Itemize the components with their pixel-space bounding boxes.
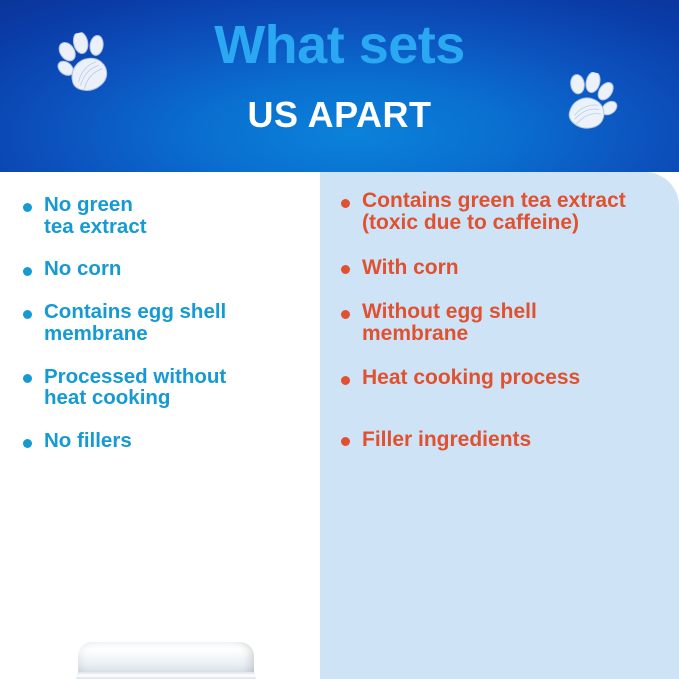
list-item: Contains green tea extract(toxic due to …: [340, 190, 674, 235]
bullet-dot-icon: [23, 267, 32, 276]
list-item: Heat cooking process: [340, 367, 674, 389]
bullet-dot-icon: [23, 439, 32, 448]
list-item-label: Without egg shellmembrane: [362, 300, 537, 345]
our-benefits-list: No greentea extract No corn Contains egg…: [22, 194, 308, 473]
list-item: Contains egg shellmembrane: [22, 301, 308, 344]
list-item: No corn: [22, 258, 308, 280]
list-item-label: No corn: [44, 257, 121, 280]
list-item: With corn: [340, 257, 674, 279]
page-subtitle: US APART: [0, 97, 679, 133]
header-banner: What sets US APART: [0, 0, 679, 172]
page-title: What sets: [0, 18, 679, 72]
bullet-dot-icon: [341, 437, 350, 446]
list-item-label: Processed withoutheat cooking: [44, 365, 226, 410]
bullet-dot-icon: [23, 374, 32, 383]
bullet-dot-icon: [341, 310, 350, 319]
infographic-canvas: What sets US APART No greentea extract N…: [0, 0, 679, 679]
list-item-label: Filler ingredients: [362, 428, 531, 451]
list-item-label: No greentea extract: [44, 193, 147, 238]
list-item: Without egg shellmembrane: [340, 301, 674, 346]
bullet-dot-icon: [23, 203, 32, 212]
bullet-dot-icon: [23, 310, 32, 319]
bullet-dot-icon: [341, 199, 350, 208]
list-item-label: Contains egg shellmembrane: [44, 300, 226, 345]
our-product-jar-image: ARTULLANO GLUCOSAMINE ADVANCED HIP & JOI…: [68, 642, 264, 679]
jar-lid-rim: [76, 672, 256, 679]
list-item-label: Contains green tea extract(toxic due to …: [362, 189, 626, 234]
list-item: Processed withoutheat cooking: [22, 366, 308, 409]
list-item-label: With corn: [362, 256, 459, 279]
list-item: Filler ingredients: [340, 429, 674, 451]
list-item-label: No fillers: [44, 429, 132, 452]
their-drawbacks-list: Contains green tea extract(toxic due to …: [340, 190, 674, 473]
our-product-panel: No greentea extract No corn Contains egg…: [0, 172, 320, 679]
list-item-label: Heat cooking process: [362, 366, 580, 389]
bullet-dot-icon: [341, 265, 350, 274]
list-item: No greentea extract: [22, 194, 308, 237]
their-product-panel: Contains green tea extract(toxic due to …: [320, 172, 679, 679]
bullet-dot-icon: [341, 376, 350, 385]
list-item: No fillers: [22, 430, 308, 452]
